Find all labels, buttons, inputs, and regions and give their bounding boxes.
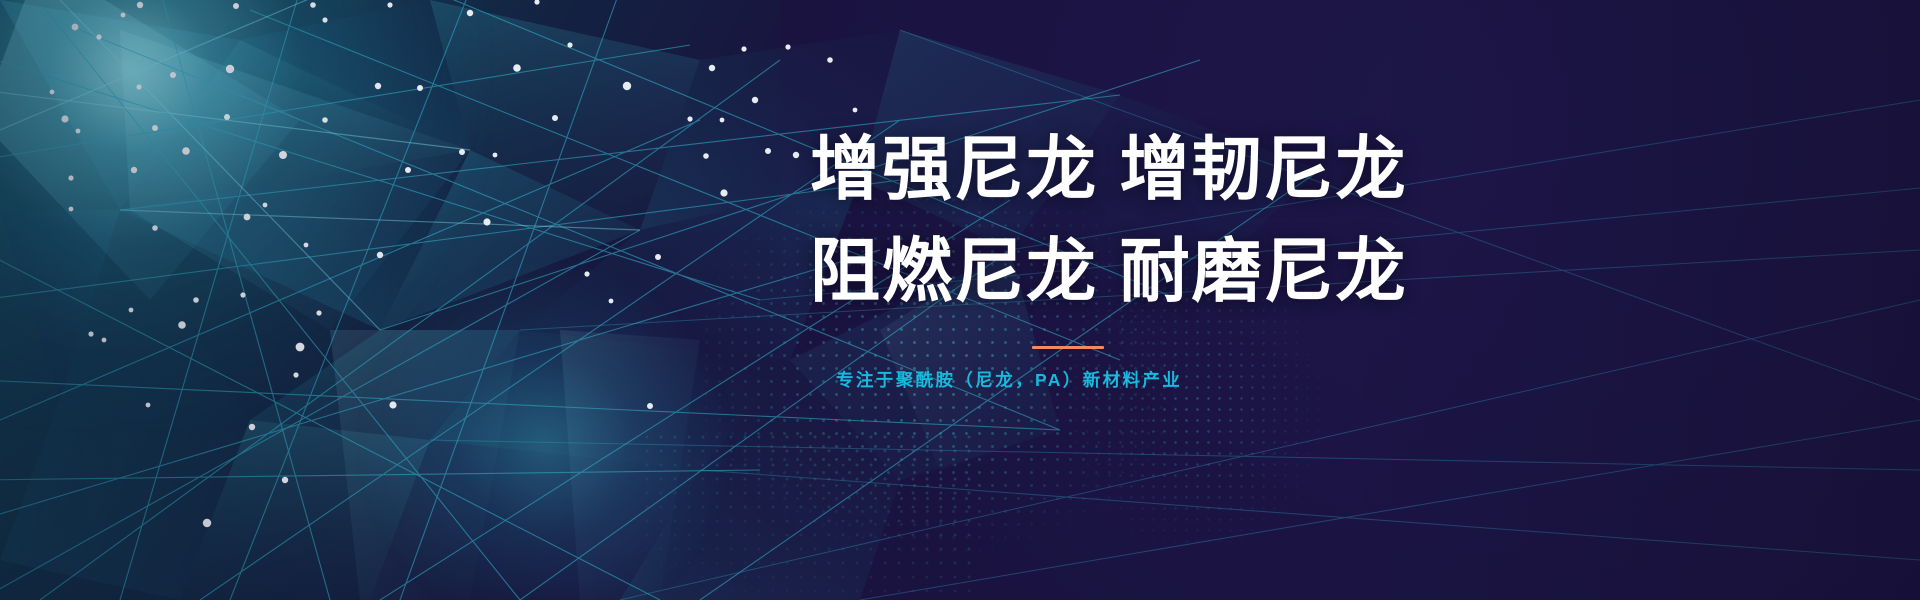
- banner-subtitle: 专注于聚酰胺（尼龙，PA）新材料产业: [810, 367, 1810, 392]
- banner-content: 增强尼龙 增韧尼龙 阻燃尼龙 耐磨尼龙 专注于聚酰胺（尼龙，PA）新材料产业: [810, 118, 1810, 392]
- divider-container: [810, 346, 1810, 349]
- headline-line-1: 增强尼龙 增韧尼龙: [810, 118, 1810, 220]
- accent-divider: [1032, 346, 1104, 349]
- hero-banner: 增强尼龙 增韧尼龙 阻燃尼龙 耐磨尼龙 专注于聚酰胺（尼龙，PA）新材料产业: [0, 0, 1920, 600]
- headline-line-2: 阻燃尼龙 耐磨尼龙: [810, 220, 1810, 322]
